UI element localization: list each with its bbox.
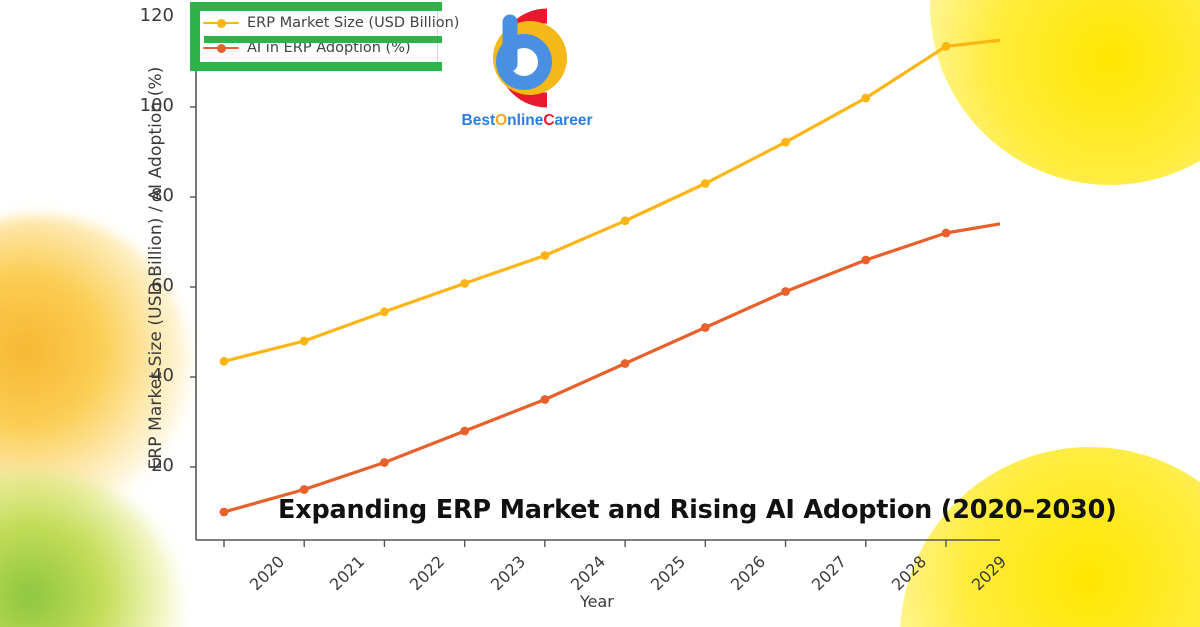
wordmark-part-2: O (495, 112, 507, 129)
data-point (220, 357, 229, 366)
legend-swatch-erp-market-size (203, 16, 239, 30)
y-axis-title: ERP Market Size (USD Billion) / AI Adopt… (146, 28, 166, 508)
data-point (781, 138, 790, 147)
data-point (220, 508, 229, 517)
data-point (541, 251, 550, 260)
data-point (621, 216, 630, 225)
data-point (942, 42, 951, 51)
legend-label-ai-adoption: AI in ERP Adoption (%) (247, 40, 411, 56)
data-point (861, 94, 870, 103)
data-point (861, 256, 870, 265)
chart-legend[interactable]: ERP Market Size (USD Billion) AI in ERP … (196, 4, 438, 66)
wordmark-part-4: C (543, 112, 554, 129)
data-point (460, 427, 469, 436)
data-point (621, 359, 630, 368)
chart-title-banner: Expanding ERP Market and Rising AI Adopt… (278, 495, 1117, 525)
data-point (300, 337, 309, 346)
data-point (1022, 215, 1031, 224)
legend-label-erp-market-size: ERP Market Size (USD Billion) (247, 15, 459, 31)
y-tick-label-120: 120 (0, 5, 186, 26)
data-point (701, 179, 710, 188)
data-point (1022, 33, 1031, 42)
legend-swatch-ai-adoption (203, 41, 239, 55)
wordmark-part-5: areer (555, 112, 593, 129)
data-point (300, 485, 309, 494)
wordmark-part-3: nline (507, 112, 543, 129)
data-series-layer (220, 33, 1031, 517)
data-point (380, 458, 389, 467)
chart-screenshot: 20406080100120 2020202120222023202420252… (0, 0, 1200, 627)
wordmark-part-1: est (473, 112, 495, 129)
x-axis-title: Year (580, 592, 614, 611)
series-line-erp-market-size (224, 37, 1026, 361)
data-point (541, 395, 550, 404)
wordmark-part-0: B (462, 112, 473, 129)
y-axis-ticks (190, 17, 196, 467)
brand-logo: BestOnlineCareer (452, 4, 602, 134)
data-point (380, 307, 389, 316)
data-point (701, 323, 710, 332)
logo-mark-icon (452, 4, 602, 112)
x-axis-ticks (224, 540, 946, 547)
data-point (942, 229, 951, 238)
brand-wordmark: BestOnlineCareer (452, 112, 602, 130)
data-point (460, 279, 469, 288)
legend-item-ai-adoption[interactable]: AI in ERP Adoption (%) (203, 35, 429, 60)
data-point (781, 287, 790, 296)
legend-item-erp-market-size[interactable]: ERP Market Size (USD Billion) (203, 10, 429, 35)
